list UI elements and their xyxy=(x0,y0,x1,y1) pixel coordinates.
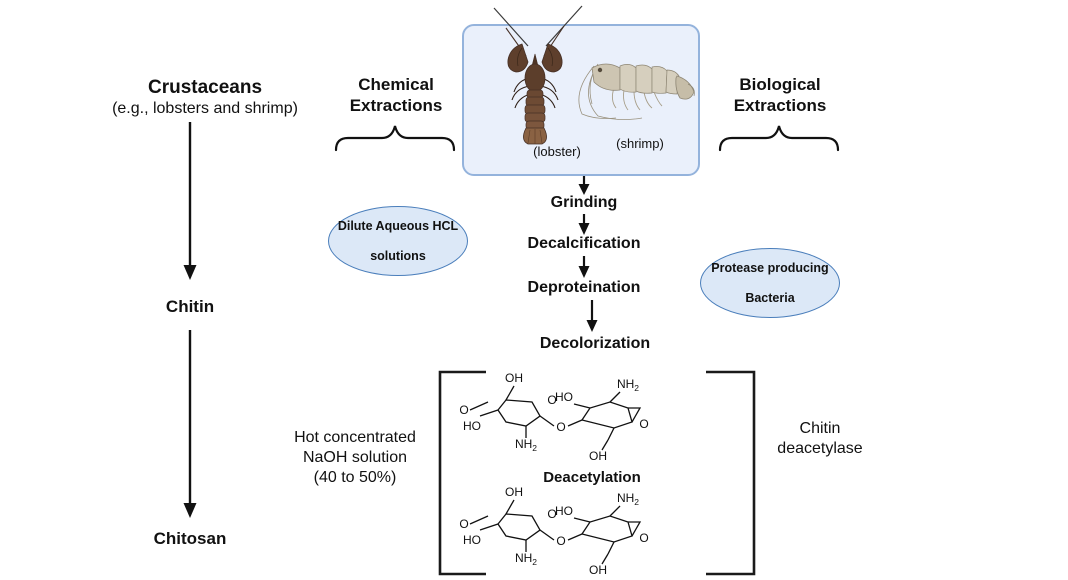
protease-bacteria-bubble: Protease producing Bacteria xyxy=(700,248,840,318)
naoh-solution-note: Hot concentrated NaOH solution (40 to 50… xyxy=(265,428,445,488)
svg-text:NH2: NH2 xyxy=(617,491,639,507)
svg-text:OH: OH xyxy=(589,563,607,577)
svg-text:NH2: NH2 xyxy=(515,437,537,453)
naoh-note-line1: Hot concentrated xyxy=(265,428,445,448)
svg-text:NH2: NH2 xyxy=(515,551,537,567)
structure-labels-lower: OH O O HO NH2 O HO NH2 O OH xyxy=(459,485,648,577)
lobster-illustration xyxy=(492,26,578,146)
svg-text:HO: HO xyxy=(555,390,573,404)
flow-step-decolorization: Decolorization xyxy=(484,335,706,353)
shrimp-illustration xyxy=(576,48,698,130)
crustaceans-title: Crustaceans xyxy=(80,77,330,99)
biological-extractions-title: Biological Extractions xyxy=(700,74,860,116)
svg-text:HO: HO xyxy=(555,504,573,518)
chemical-extractions-title: Chemical Extractions xyxy=(318,74,474,116)
chemical-extractions-line1: Chemical xyxy=(318,74,474,95)
svg-text:NH2: NH2 xyxy=(617,377,639,393)
svg-text:O: O xyxy=(459,403,468,417)
hcl-reagent-bubble: Dilute Aqueous HCL solutions xyxy=(328,206,468,276)
structure-labels-upper: OH O O HO NH2 O HO NH2 O OH xyxy=(459,371,648,463)
flow-step-deproteination: Deproteination xyxy=(484,279,684,297)
svg-text:O: O xyxy=(639,417,648,431)
arrow-box-to-grinding xyxy=(560,176,608,196)
protease-bacteria-line2: Bacteria xyxy=(711,291,828,306)
chemical-extractions-line2: Extractions xyxy=(318,95,474,116)
hcl-reagent-line2: solutions xyxy=(338,249,458,264)
crustaceans-subtitle: (e.g., lobsters and shrimp) xyxy=(60,100,350,118)
protease-bacteria-line1: Protease producing xyxy=(711,261,828,276)
flow-step-grinding: Grinding xyxy=(484,194,684,212)
hcl-reagent-line1: Dilute Aqueous HCL xyxy=(338,219,458,234)
svg-text:O: O xyxy=(459,517,468,531)
arrow-decalcification-to-deproteination xyxy=(560,256,608,280)
svg-text:O: O xyxy=(639,531,648,545)
arrow-crustaceans-to-chitin xyxy=(150,122,230,282)
svg-text:OH: OH xyxy=(505,485,523,499)
structure-bracket-right xyxy=(706,372,754,574)
naoh-note-line2: NaOH solution xyxy=(265,448,445,468)
svg-text:OH: OH xyxy=(505,371,523,385)
biological-extractions-brace xyxy=(714,116,844,152)
arrow-deproteination-to-decolorization xyxy=(568,300,616,334)
svg-text:HO: HO xyxy=(463,533,481,547)
chemical-extractions-brace xyxy=(330,116,460,152)
flow-step-deacetylation: Deacetylation xyxy=(484,469,700,486)
diagram-canvas: Crustaceans (e.g., lobsters and shrimp) … xyxy=(0,0,1068,580)
biological-extractions-line2: Extractions xyxy=(700,95,860,116)
shrimp-caption: (shrimp) xyxy=(580,136,700,151)
biological-extractions-line1: Biological xyxy=(700,74,860,95)
flow-step-decalcification: Decalcification xyxy=(484,235,684,253)
chitin-label: Chitin xyxy=(115,297,265,317)
arrow-chitin-to-chitosan xyxy=(150,330,230,520)
svg-text:O: O xyxy=(556,534,565,548)
svg-text:O: O xyxy=(556,420,565,434)
svg-text:OH: OH xyxy=(589,449,607,463)
chitosan-label: Chitosan xyxy=(115,529,265,549)
svg-text:HO: HO xyxy=(463,419,481,433)
naoh-note-line3: (40 to 50%) xyxy=(265,468,445,488)
arrow-grinding-to-decalcification xyxy=(560,214,608,236)
